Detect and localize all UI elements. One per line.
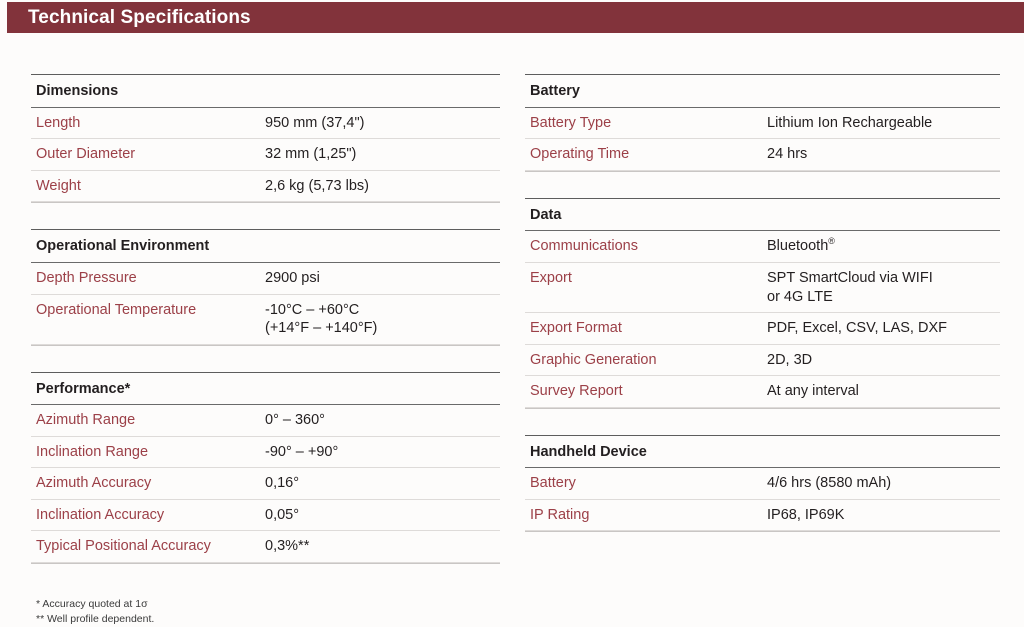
spec-label-ip-rating: IP Rating [525, 506, 767, 525]
spec-row: Inclination Range-90° – +90° [31, 437, 500, 469]
spec-row: Inclination Accuracy0,05° [31, 500, 500, 532]
spec-row: Operational Temperature-10°C – +60°C (+1… [31, 295, 500, 345]
section-rule-bottom [525, 171, 1000, 172]
spec-value-battery: 4/6 hrs (8580 mAh) [767, 474, 1000, 493]
spec-value-azimuth-range: 0° – 360° [265, 411, 500, 430]
spec-value-battery-type: Lithium Ion Rechargeable [767, 114, 1000, 133]
spec-row: Export FormatPDF, Excel, CSV, LAS, DXF [525, 313, 1000, 345]
page-title: Technical Specifications [28, 7, 251, 29]
right-column: BatteryBattery TypeLithium Ion Rechargea… [512, 33, 1024, 571]
section-title: Performance* [31, 373, 500, 405]
spec-label-communications: Communications [525, 237, 767, 256]
spec-section-battery: BatteryBattery TypeLithium Ion Rechargea… [525, 74, 1000, 172]
spec-value-depth-pressure: 2900 psi [265, 269, 500, 288]
spec-value-outer-diameter: 32 mm (1,25") [265, 145, 500, 164]
spec-row: Battery TypeLithium Ion Rechargeable [525, 108, 1000, 140]
spec-label-length: Length [31, 114, 265, 133]
footnotes: * Accuracy quoted at 1σ** Well profile d… [31, 590, 500, 627]
spec-label-azimuth-range: Azimuth Range [31, 411, 265, 430]
spec-value-communications: Bluetooth® [767, 237, 1000, 256]
spec-value-inclination-accuracy: 0,05° [265, 506, 500, 525]
spec-label-weight: Weight [31, 177, 265, 196]
spec-value-operating-time: 24 hrs [767, 145, 1000, 164]
section-rule-bottom [31, 563, 500, 564]
spec-label-inclination-range: Inclination Range [31, 443, 265, 462]
section-title: Data [525, 199, 1000, 231]
section-rule-bottom [525, 531, 1000, 532]
spec-value-graphic-generation: 2D, 3D [767, 351, 1000, 370]
spec-value-operational-temperature: -10°C – +60°C (+14°F – +140°F) [265, 301, 500, 338]
spec-value-length: 950 mm (37,4") [265, 114, 500, 133]
spec-columns: DimensionsLength950 mm (37,4")Outer Diam… [0, 33, 1024, 571]
spec-label-export: Export [525, 269, 767, 288]
spec-row: ExportSPT SmartCloud via WIFI or 4G LTE [525, 263, 1000, 313]
spec-sheet-page: Technical Specifications DimensionsLengt… [0, 0, 1024, 571]
spec-row: IP RatingIP68, IP69K [525, 500, 1000, 532]
spec-value-export: SPT SmartCloud via WIFI or 4G LTE [767, 269, 1000, 306]
section-rule-bottom [31, 202, 500, 203]
spec-section-dimensions: DimensionsLength950 mm (37,4")Outer Diam… [31, 74, 500, 203]
spec-section-performance: Performance*Azimuth Range0° – 360°Inclin… [31, 372, 500, 564]
spec-label-typical-positional-accuracy: Typical Positional Accuracy [31, 537, 265, 556]
section-rule-bottom [31, 345, 500, 346]
section-title: Operational Environment [31, 230, 500, 262]
section-title: Dimensions [31, 75, 500, 107]
spec-label-depth-pressure: Depth Pressure [31, 269, 265, 288]
spec-value-ip-rating: IP68, IP69K [767, 506, 1000, 525]
spec-row: Typical Positional Accuracy0,3%** [31, 531, 500, 563]
section-rule-bottom [525, 408, 1000, 409]
footnote-2: ** Well profile dependent. [36, 612, 500, 627]
spec-label-battery: Battery [525, 474, 767, 493]
section-title: Battery [525, 75, 1000, 107]
spec-label-battery-type: Battery Type [525, 114, 767, 133]
spec-row: CommunicationsBluetooth® [525, 231, 1000, 263]
spec-label-graphic-generation: Graphic Generation [525, 351, 767, 370]
spec-label-export-format: Export Format [525, 319, 767, 338]
left-column: DimensionsLength950 mm (37,4")Outer Diam… [0, 33, 512, 571]
spec-row: Depth Pressure2900 psi [31, 263, 500, 295]
spec-value-weight: 2,6 kg (5,73 lbs) [265, 177, 500, 196]
spec-row: Length950 mm (37,4") [31, 108, 500, 140]
spec-label-operating-time: Operating Time [525, 145, 767, 164]
spec-label-azimuth-accuracy: Azimuth Accuracy [31, 474, 265, 493]
spec-value-azimuth-accuracy: 0,16° [265, 474, 500, 493]
left-column-sections: DimensionsLength950 mm (37,4")Outer Diam… [31, 33, 500, 564]
spec-row: Azimuth Range0° – 360° [31, 405, 500, 437]
spec-row: Survey ReportAt any interval [525, 376, 1000, 408]
spec-row: Weight2,6 kg (5,73 lbs) [31, 171, 500, 203]
spec-label-operational-temperature: Operational Temperature [31, 301, 265, 320]
spec-section-data: DataCommunicationsBluetooth®ExportSPT Sm… [525, 198, 1000, 409]
right-column-sections: BatteryBattery TypeLithium Ion Rechargea… [525, 33, 1000, 532]
section-title: Handheld Device [525, 436, 1000, 468]
spec-section-operational-environment: Operational EnvironmentDepth Pressure290… [31, 229, 500, 345]
spec-row: Graphic Generation2D, 3D [525, 345, 1000, 377]
spec-row: Outer Diameter32 mm (1,25") [31, 139, 500, 171]
spec-value-survey-report: At any interval [767, 382, 1000, 401]
footnote-1: * Accuracy quoted at 1σ [36, 597, 500, 612]
spec-value-inclination-range: -90° – +90° [265, 443, 500, 462]
page-header-bar: Technical Specifications [7, 2, 1024, 33]
spec-value-typical-positional-accuracy: 0,3%** [265, 537, 500, 556]
spec-label-outer-diameter: Outer Diameter [31, 145, 265, 164]
spec-row: Azimuth Accuracy0,16° [31, 468, 500, 500]
spec-label-inclination-accuracy: Inclination Accuracy [31, 506, 265, 525]
spec-value-export-format: PDF, Excel, CSV, LAS, DXF [767, 319, 1000, 338]
spec-label-survey-report: Survey Report [525, 382, 767, 401]
registered-trademark-icon: ® [828, 237, 835, 247]
spec-row: Operating Time24 hrs [525, 139, 1000, 171]
spec-row: Battery4/6 hrs (8580 mAh) [525, 468, 1000, 500]
spec-section-handheld-device: Handheld DeviceBattery4/6 hrs (8580 mAh)… [525, 435, 1000, 533]
